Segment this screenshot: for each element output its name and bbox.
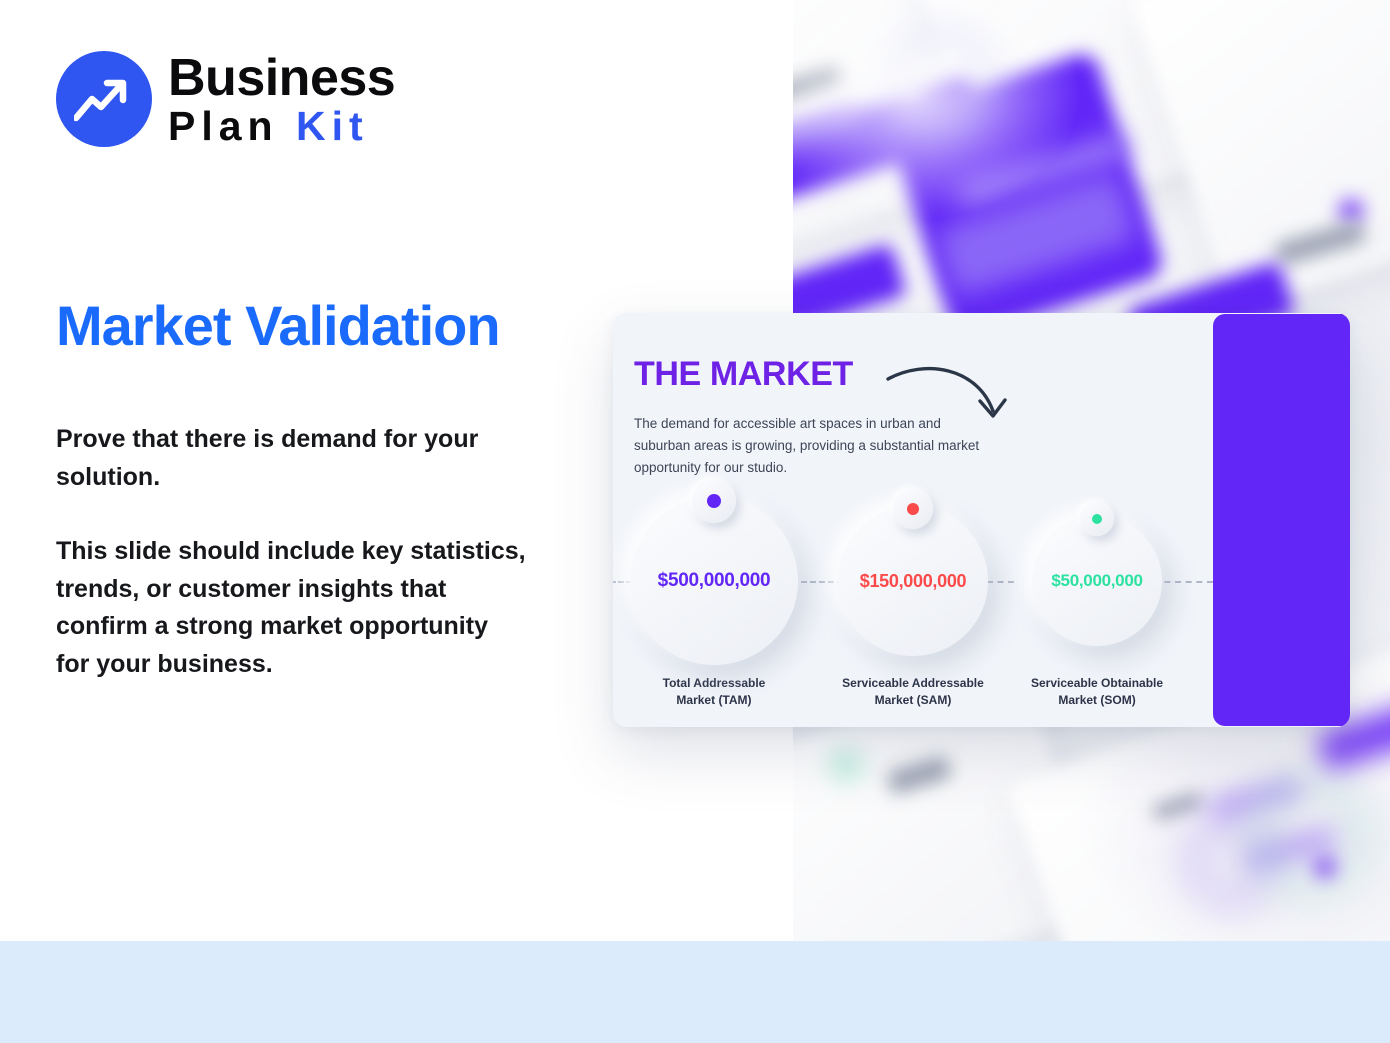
metric-knob bbox=[893, 489, 933, 529]
brand-logo: Business Plan Kit bbox=[56, 50, 395, 147]
market-slide-preview-card[interactable]: THE MARKET The demand for accessible art… bbox=[613, 313, 1350, 727]
accent-block bbox=[1213, 314, 1350, 726]
metric-label: Total Addressable Market (TAM) bbox=[663, 675, 766, 708]
bottom-color-band bbox=[0, 941, 1390, 1043]
metric-knob bbox=[1080, 502, 1114, 536]
slide-description: The demand for accessible art spaces in … bbox=[634, 413, 986, 479]
body-paragraph: This slide should include key statistics… bbox=[56, 533, 526, 683]
metric-label: Serviceable Addressable Market (SAM) bbox=[842, 675, 984, 708]
lead-paragraph: Prove that there is demand for your solu… bbox=[56, 420, 576, 496]
growth-chart-circle-icon bbox=[56, 51, 152, 147]
metric-color-dot bbox=[1092, 514, 1102, 524]
metric-label: Serviceable Obtainable Market (SOM) bbox=[1031, 675, 1163, 708]
metric-color-dot bbox=[707, 494, 721, 508]
page-title: Market Validation bbox=[56, 297, 500, 356]
slide-page: Business Plan Kit Market Validation Prov… bbox=[0, 0, 1390, 1043]
metric-knob bbox=[692, 479, 736, 523]
metric-amount: $150,000,000 bbox=[860, 571, 967, 592]
market-metric-som: $50,000,000Serviceable Obtainable Market… bbox=[1031, 516, 1163, 708]
metric-bubble: $500,000,000 bbox=[630, 497, 798, 665]
brand-name-kit: Kit bbox=[296, 103, 369, 149]
slide-title: THE MARKET bbox=[634, 355, 853, 394]
metric-bubble: $50,000,000 bbox=[1032, 516, 1162, 646]
brand-name-line1: Business bbox=[168, 52, 395, 104]
brand-name-plan: Plan bbox=[168, 103, 279, 149]
market-metrics-group: $500,000,000Total Addressable Market (TA… bbox=[613, 496, 1213, 726]
metric-bubble: $150,000,000 bbox=[838, 506, 988, 656]
metric-color-dot bbox=[907, 503, 919, 515]
metric-amount: $500,000,000 bbox=[658, 570, 771, 592]
metric-amount: $50,000,000 bbox=[1051, 571, 1142, 591]
market-metric-tam: $500,000,000Total Addressable Market (TA… bbox=[630, 497, 798, 708]
market-metric-sam: $150,000,000Serviceable Addressable Mark… bbox=[838, 506, 988, 708]
